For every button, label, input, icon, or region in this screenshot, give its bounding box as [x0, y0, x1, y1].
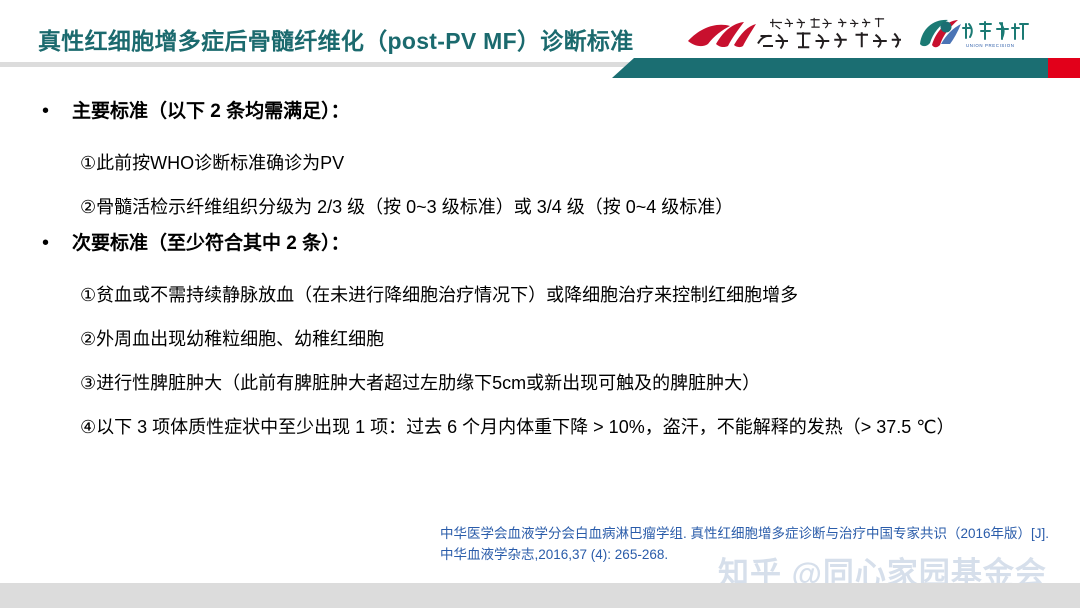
- ihcams-logo-icon: [686, 14, 901, 56]
- header-teal-band: [612, 58, 1048, 78]
- slide-content: • 主要标准（以下 2 条均需满足）： ①此前按WHO诊断标准确诊为PV ②骨髓…: [0, 96, 1080, 448]
- list-item: ①贫血或不需持续静脉放血（在未进行降细胞治疗情况下）或降细胞治疗来控制红细胞增多: [80, 272, 1080, 316]
- list-item: ①此前按WHO诊断标准确诊为PV: [80, 140, 1080, 184]
- section-heading: 主要标准（以下 2 条均需满足）：: [72, 96, 350, 123]
- union-precision-logo-icon: UNION PRECISION: [916, 14, 1040, 54]
- header-red-accent: [1048, 58, 1080, 78]
- list-item: ②外周血出现幼稚粒细胞、幼稚红细胞: [80, 316, 1080, 360]
- citation-block: 中华医学会血液学分会白血病淋巴瘤学组. 真性红细胞增多症诊断与治疗中国专家共识（…: [440, 524, 1049, 566]
- list-item: ③进行性脾脏肿大（此前有脾脏肿大者超过左肋缘下5cm或新出现可触及的脾脏肿大）: [80, 360, 1080, 404]
- page-title: 真性红细胞增多症后骨髓纤维化（post-PV MF）诊断标准: [38, 22, 634, 56]
- citation-line-1: 中华医学会血液学分会白血病淋巴瘤学组. 真性红细胞增多症诊断与治疗中国专家共识（…: [440, 524, 1049, 545]
- svg-text:UNION PRECISION: UNION PRECISION: [966, 43, 1015, 48]
- bullet-icon: •: [42, 101, 72, 121]
- section-heading-row: • 主要标准（以下 2 条均需满足）：: [42, 96, 1080, 140]
- list-item: ④以下 3 项体质性症状中至少出现 1 项：过去 6 个月内体重下降 > 10%…: [80, 404, 1080, 448]
- union-precision-logo: UNION PRECISION: [916, 14, 1040, 54]
- slide-root: 真性红细胞增多症后骨髓纤维化（post-PV MF）诊断标准: [0, 0, 1080, 608]
- ihcams-logo: [686, 14, 901, 56]
- section-heading: 次要标准（至少符合其中 2 条）：: [72, 228, 350, 255]
- slide-header: 真性红细胞增多症后骨髓纤维化（post-PV MF）诊断标准: [0, 0, 1080, 80]
- bullet-icon: •: [42, 233, 72, 253]
- list-item: ②骨髓活检示纤维组织分级为 2/3 级（按 0~3 级标准）或 3/4 级（按 …: [80, 184, 1080, 228]
- section-heading-row: • 次要标准（至少符合其中 2 条）：: [42, 228, 1080, 272]
- slide-footer-band: [0, 583, 1080, 608]
- citation-line-2: 中华血液学杂志,2016,37 (4): 265-268.: [440, 545, 1049, 566]
- header-divider-rule: [0, 62, 640, 67]
